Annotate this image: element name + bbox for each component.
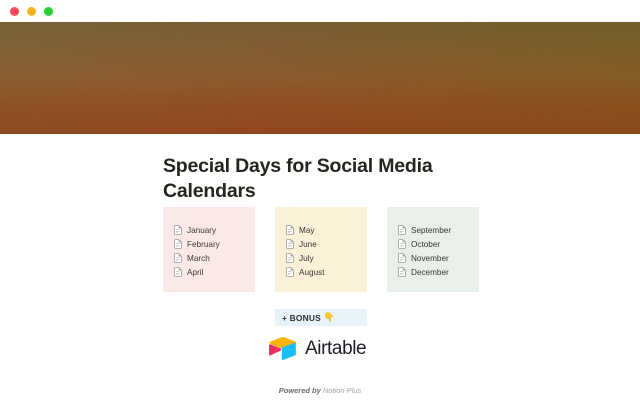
list-item-label: December: [411, 267, 449, 278]
list-item-label: September: [411, 225, 451, 236]
backhand-index-pointing-down-icon: 👇: [324, 313, 335, 322]
maximize-window-button[interactable]: [44, 7, 53, 16]
list-item[interactable]: March: [174, 251, 255, 265]
document-icon: [286, 253, 294, 263]
airtable-logo[interactable]: Airtable: [268, 336, 366, 361]
list-item[interactable]: February: [174, 237, 255, 251]
bonus-badge[interactable]: + BONUS 👇: [275, 309, 367, 326]
list-item-label: April: [187, 267, 203, 278]
document-icon: [398, 253, 406, 263]
close-window-button[interactable]: [10, 7, 19, 16]
page-body: Special Days for Social Media Calendars …: [0, 134, 640, 400]
list-item[interactable]: May: [286, 223, 367, 237]
bonus-label: + BONUS: [282, 313, 321, 323]
list-item[interactable]: December: [398, 265, 479, 279]
footer-prefix: Powered by: [279, 386, 321, 395]
document-icon: [174, 225, 182, 235]
airtable-wordmark: Airtable: [305, 339, 366, 358]
list-item[interactable]: October: [398, 237, 479, 251]
month-card-q2: May June July: [275, 207, 367, 292]
document-icon: [174, 253, 182, 263]
month-card-group: January February March: [163, 207, 479, 292]
hero-cover-banner: [0, 22, 640, 134]
list-item-label: May: [299, 225, 314, 236]
document-icon: [398, 239, 406, 249]
list-item-label: August: [299, 267, 325, 278]
list-item[interactable]: June: [286, 237, 367, 251]
document-icon: [174, 239, 182, 249]
list-item[interactable]: November: [398, 251, 479, 265]
document-icon: [174, 267, 182, 277]
minimize-window-button[interactable]: [27, 7, 36, 16]
document-icon: [398, 225, 406, 235]
document-icon: [286, 239, 294, 249]
list-item[interactable]: August: [286, 265, 367, 279]
document-icon: [286, 225, 294, 235]
list-item-label: November: [411, 253, 449, 264]
page-title: Special Days for Social Media Calendars: [163, 154, 463, 204]
footer: Powered by Notion Plus: [0, 386, 640, 395]
list-item-label: June: [299, 239, 317, 250]
list-item-label: January: [187, 225, 216, 236]
month-card-q1: January February March: [163, 207, 255, 292]
footer-brand[interactable]: Notion Plus: [323, 386, 361, 395]
window-titlebar: [0, 0, 640, 22]
window-controls: [10, 7, 53, 16]
document-icon: [286, 267, 294, 277]
airtable-logo-icon: [268, 336, 298, 361]
list-item[interactable]: September: [398, 223, 479, 237]
list-item-label: March: [187, 253, 210, 264]
document-icon: [398, 267, 406, 277]
app-window: Special Days for Social Media Calendars …: [0, 0, 640, 400]
list-item[interactable]: July: [286, 251, 367, 265]
month-card-q3: September October Nove: [387, 207, 479, 292]
list-item-label: July: [299, 253, 314, 264]
list-item-label: October: [411, 239, 440, 250]
list-item-label: February: [187, 239, 220, 250]
list-item[interactable]: January: [174, 223, 255, 237]
list-item[interactable]: April: [174, 265, 255, 279]
